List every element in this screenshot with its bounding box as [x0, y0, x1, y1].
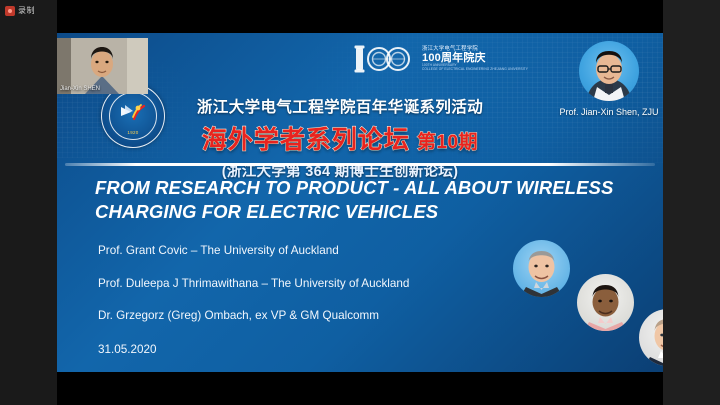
100-anniversary-icon: [353, 42, 417, 76]
right-panel-chrome: [663, 0, 720, 405]
guest-portrait-icon: [639, 309, 663, 366]
speaker-item: Prof. Duleepa J Thrimawithana – The Univ…: [98, 278, 518, 290]
guest-avatar-grzegorz-ombach: [639, 309, 663, 366]
host-avatar: [579, 41, 639, 101]
self-view-video[interactable]: Jian-Xin SHEN: [57, 38, 148, 94]
speaker-item: Prof. Grant Covic – The University of Au…: [98, 245, 518, 257]
seal-year: 1920: [127, 130, 138, 135]
self-view-name-label: Jian-Xin SHEN: [60, 86, 100, 92]
slide-divider: [65, 163, 655, 166]
headline-forum-title: 海外学者系列论坛: [202, 120, 410, 156]
host-name: Prof. Jian-Xin Shen, ZJU: [555, 107, 663, 117]
left-letterbox: [0, 0, 57, 405]
host-block: Prof. Jian-Xin Shen, ZJU: [555, 41, 663, 117]
guest-avatar-duleepa-thrimawithana: [577, 274, 634, 331]
anniversary-logo: 浙江大学电气工程学院 100周年院庆 100TH ANNIVERSARY COL…: [353, 37, 543, 81]
headline-episode: 第10期: [417, 127, 478, 154]
record-icon: [5, 6, 15, 16]
anniversary-line4: COLLEGE OF ELECTRICAL ENGINEERING ZHEJIA…: [422, 68, 528, 71]
slide-body: FROM RESEARCH TO PRODUCT - ALL ABOUT WIR…: [57, 169, 663, 372]
guest-portrait-icon: [577, 274, 634, 331]
guest-portrait-icon: [513, 240, 570, 297]
guest-avatar-grant-covic: [513, 240, 570, 297]
screen-share-view: 录制 1920: [0, 0, 720, 405]
recording-indicator[interactable]: 录制: [5, 5, 35, 16]
event-date: 31.05.2020: [98, 343, 518, 356]
seal-emblem-icon: [119, 102, 147, 122]
host-portrait-icon: [579, 41, 639, 101]
speaker-item: Dr. Grzegorz (Greg) Ombach, ex VP & GM Q…: [98, 310, 518, 322]
speaker-list: Prof. Grant Covic – The University of Au…: [98, 245, 518, 356]
headline-line1: 浙江大学电气工程学院百年华诞系列活动: [175, 95, 505, 117]
recording-label: 录制: [18, 5, 35, 16]
talk-title: FROM RESEARCH TO PRODUCT - ALL ABOUT WIR…: [95, 176, 655, 223]
headline-line2: 海外学者系列论坛 第10期: [175, 120, 505, 156]
